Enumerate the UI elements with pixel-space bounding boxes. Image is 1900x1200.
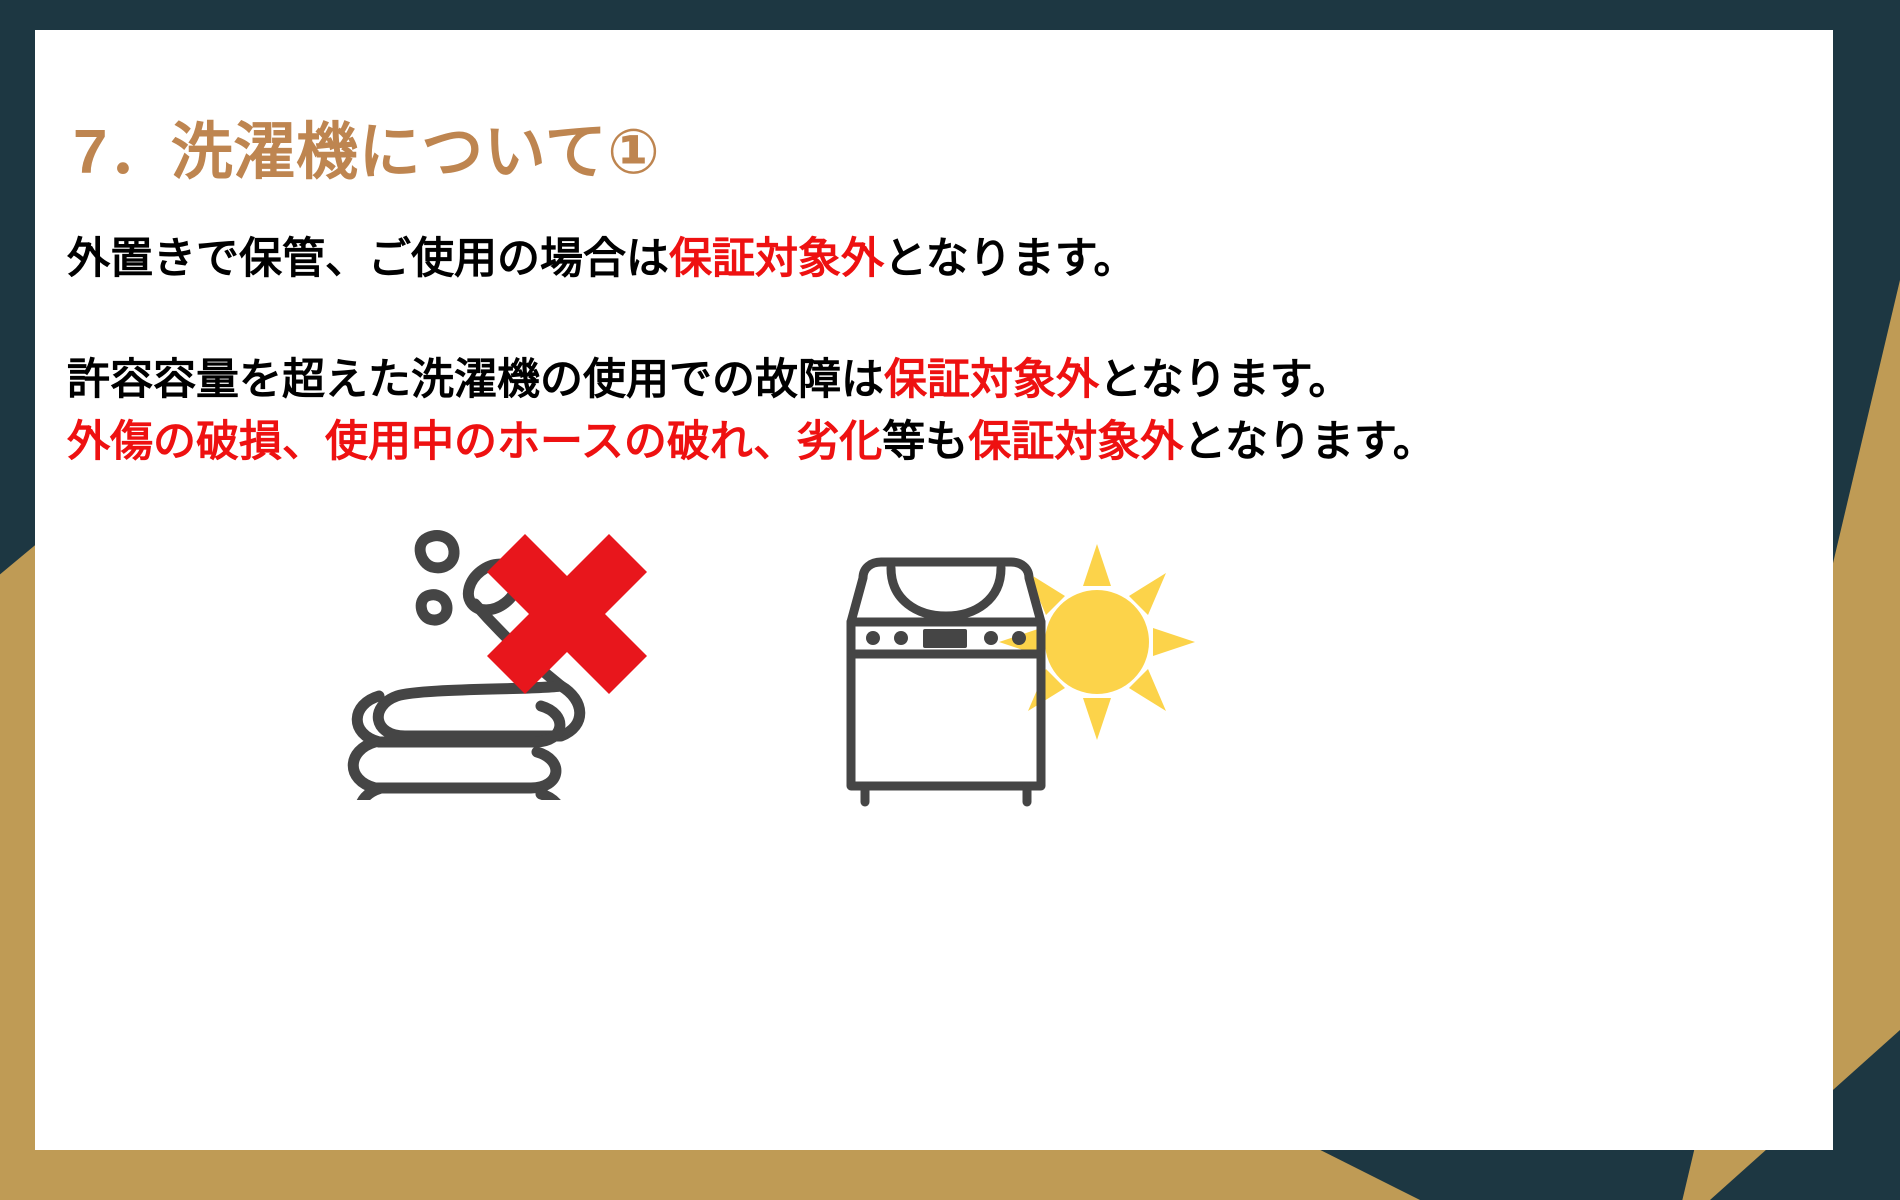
page-title: 7．洗濯機について① (73, 120, 660, 185)
text-line: 外置きで保管、ご使用の場合は保証対象外となります。 (67, 228, 1767, 290)
slide-stage: 7．洗濯機について① 外置きで保管、ご使用の場合は保証対象外となります。 許容容… (0, 0, 1900, 1200)
emphasised-text: 保証対象外 (669, 235, 884, 283)
text-line: 許容容量を超えた洗濯機の使用での故障は保証対象外となります。 (67, 349, 1767, 411)
coiled-hose-with-prohibition-mark-icon (335, 510, 655, 805)
paragraph-capacity-and-damage: 許容容量を超えた洗濯機の使用での故障は保証対象外となります。外傷の破損、使用中の… (67, 349, 1767, 473)
slide-card: 7．洗濯機について① 外置きで保管、ご使用の場合は保証対象外となります。 許容容… (35, 30, 1833, 1150)
washing-machine-in-sunlight-icon (825, 530, 1195, 835)
text-line: 外傷の破損、使用中のホースの破れ、劣化等も保証対象外となります。 (67, 411, 1767, 473)
illustration-group (35, 500, 1833, 830)
plain-text: となります。 (1183, 418, 1435, 466)
plain-text: 等も (882, 418, 968, 466)
emphasised-text: 保証対象外 (968, 418, 1183, 466)
plain-text: 外置きで保管、ご使用の場合は (67, 235, 669, 283)
plain-text: 許容容量を超えた洗濯機の使用での故障は (67, 356, 884, 404)
emphasised-text: 外傷の破損、使用中のホースの破れ、劣化 (67, 418, 882, 466)
emphasised-text: 保証対象外 (884, 356, 1099, 404)
paragraph-spacer (67, 290, 1767, 349)
slide-body-text: 外置きで保管、ご使用の場合は保証対象外となります。 許容容量を超えた洗濯機の使用… (67, 228, 1767, 473)
red-cross-mark-icon (487, 534, 647, 694)
plain-text: となります。 (884, 235, 1136, 283)
paragraph-outdoor-storage: 外置きで保管、ご使用の場合は保証対象外となります。 (67, 228, 1767, 290)
plain-text: となります。 (1099, 356, 1351, 404)
